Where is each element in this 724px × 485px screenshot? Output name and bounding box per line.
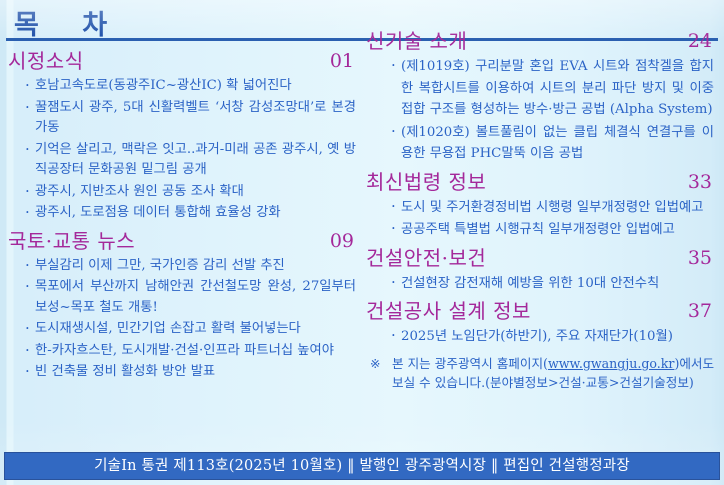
reference-mark-icon: ※ [370, 354, 381, 374]
section-heading: 국토·교통 뉴스 09 [8, 226, 360, 256]
section-latest-legislation: 최신법령 정보 33 도시 및 주거환경정비법 시행령 일부개정령안 입법예고 … [366, 167, 718, 241]
list-item: 도시 및 주거환경정비법 시행령 일부개정령안 입법예고 [390, 197, 714, 219]
note-text-before: 본 지는 광주광역시 홈페이지( [392, 356, 548, 371]
section-page-number: 09 [330, 226, 354, 256]
section-construction-safety: 건설안전·보건 35 건설현장 감전재해 예방을 위한 10대 안전수칙 [366, 243, 718, 295]
list-item: (제1019호) 구리분말 혼입 EVA 시트와 점착겔을 합지한 복합시트를 … [390, 56, 714, 121]
list-item: 목포에서 부산까지 남해안권 간선철도망 완성, 27일부터 보성~목포 철도 … [24, 277, 356, 318]
list-item: 호남고속도로(동광주IC~광산IC) 확 넓어진다 [24, 76, 356, 97]
section-item-list: (제1019호) 구리분말 혼입 EVA 시트와 점착겔을 합지한 복합시트를 … [366, 56, 718, 165]
list-item: 광주시, 지반조사 원인 공동 조사 확대 [24, 182, 356, 203]
section-title: 신기술 소개 [366, 29, 467, 53]
section-page-number: 24 [688, 26, 712, 56]
section-title: 건설안전·보건 [366, 246, 486, 270]
section-heading: 건설공사 설계 정보 37 [366, 296, 718, 326]
footer-text: 기술In 통권 제113호(2025년 10월호) ‖ 발행인 광주광역시장 ‖… [5, 453, 719, 479]
section-title: 최신법령 정보 [366, 170, 486, 194]
right-column: 신기술 소개 24 (제1019호) 구리분말 혼입 EVA 시트와 점착겔을 … [366, 26, 718, 393]
list-item: 2025년 노임단가(하반기), 주요 자재단가(10월) [390, 326, 714, 348]
section-city-news: 시정소식 01 호남고속도로(동광주IC~광산IC) 확 넓어진다 꿀잼도시 광… [8, 46, 360, 224]
section-item-list: 호남고속도로(동광주IC~광산IC) 확 넓어진다 꿀잼도시 광주, 5대 신활… [8, 76, 360, 224]
list-item: 도시재생시설, 민간기업 손잡고 활력 불어넣는다 [24, 319, 356, 340]
section-land-transport-news: 국토·교통 뉴스 09 부실감리 이제 그만, 국가인증 감리 선발 추진 목포… [8, 226, 360, 383]
section-page-number: 01 [330, 46, 354, 76]
section-title: 국토·교통 뉴스 [8, 229, 135, 253]
list-item: 광주시, 도로점용 데이터 통합해 효율성 강화 [24, 203, 356, 224]
list-item: 한-카자흐스탄, 도시개발·건설·인프라 파트너십 높여야 [24, 341, 356, 362]
list-item: 꿀잼도시 광주, 5대 신활력벨트 ‘서창 감성조망대’로 본경가동 [24, 98, 356, 139]
page-title: 목 차 [14, 3, 124, 42]
list-item: 공공주택 특별법 시행규칙 일부개정령안 입법예고 [390, 219, 714, 241]
website-link[interactable]: www.gwangju.go.kr [548, 356, 674, 371]
left-column: 시정소식 01 호남고속도로(동광주IC~광산IC) 확 넓어진다 꿀잼도시 광… [8, 46, 360, 385]
website-note: ※본 지는 광주광역시 홈페이지(www.gwangju.go.kr)에서도 보… [370, 354, 716, 393]
section-page-number: 35 [688, 243, 712, 273]
list-item: (제1020호) 볼트풀림이 없는 클립 체결식 연결구를 이용한 무용접 PH… [390, 122, 714, 165]
list-item: 건설현장 감전재해 예방을 위한 10대 안전수칙 [390, 273, 714, 295]
page-footer: 기술In 통권 제113호(2025년 10월호) ‖ 발행인 광주광역시장 ‖… [4, 452, 720, 480]
section-title: 시정소식 [8, 49, 84, 73]
section-heading: 신기술 소개 24 [366, 26, 718, 56]
section-page-number: 33 [688, 167, 712, 197]
section-new-technology: 신기술 소개 24 (제1019호) 구리분말 혼입 EVA 시트와 점착겔을 … [366, 26, 718, 165]
section-design-info: 건설공사 설계 정보 37 2025년 노임단가(하반기), 주요 자재단가(1… [366, 296, 718, 348]
section-item-list: 도시 및 주거환경정비법 시행령 일부개정령안 입법예고 공공주택 특별법 시행… [366, 197, 718, 241]
list-item: 기억은 살리고, 맥락은 잇고..과거-미래 공존 광주시, 옛 방직공장터 문… [24, 140, 356, 181]
section-item-list: 건설현장 감전재해 예방을 위한 10대 안전수칙 [366, 273, 718, 295]
list-item: 빈 건축물 정비 활성화 방안 발표 [24, 362, 356, 383]
section-heading: 최신법령 정보 33 [366, 167, 718, 197]
section-item-list: 2025년 노임단가(하반기), 주요 자재단가(10월) [366, 326, 718, 348]
section-item-list: 부실감리 이제 그만, 국가인증 감리 선발 추진 목포에서 부산까지 남해안권… [8, 256, 360, 383]
toc-page: 목 차 시정소식 01 호남고속도로(동광주IC~광산IC) 확 넓어진다 꿀잼… [0, 0, 724, 485]
list-item: 부실감리 이제 그만, 국가인증 감리 선발 추진 [24, 256, 356, 277]
section-heading: 시정소식 01 [8, 46, 360, 76]
section-heading: 건설안전·보건 35 [366, 243, 718, 273]
section-title: 건설공사 설계 정보 [366, 299, 531, 323]
section-page-number: 37 [688, 296, 712, 326]
